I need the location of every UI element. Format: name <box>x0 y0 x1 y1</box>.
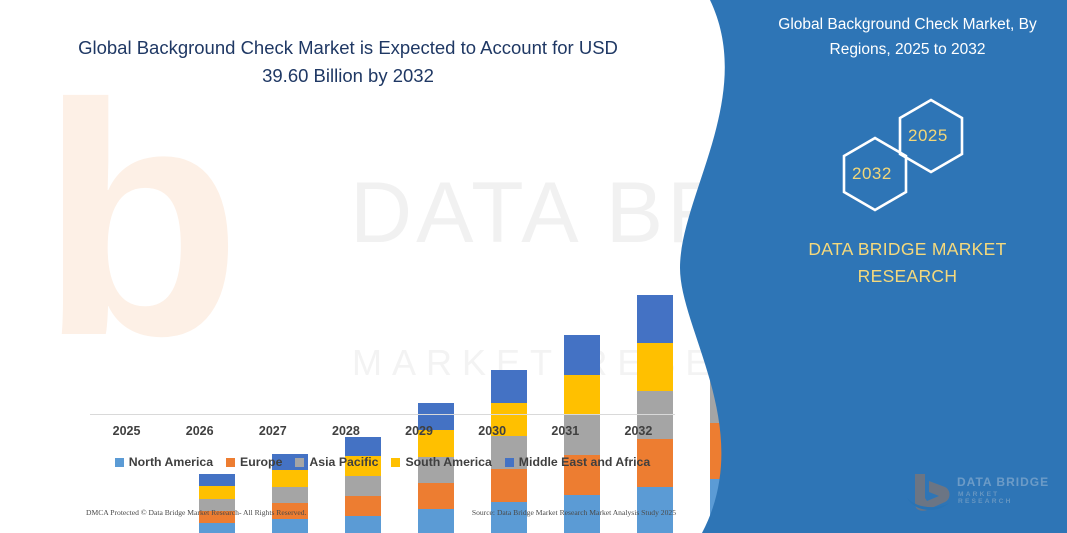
hexagon-2032-label: 2032 <box>852 164 892 184</box>
bar-segment[interactable] <box>418 483 454 509</box>
brand-line-2: RESEARCH <box>775 263 1040 290</box>
legend-swatch-icon <box>115 458 124 467</box>
legend-swatch-icon <box>295 458 304 467</box>
x-axis-tick-2025: 2025 <box>90 424 163 438</box>
stacked-bar[interactable] <box>345 437 381 533</box>
x-axis-tick-2028: 2028 <box>309 424 382 438</box>
bar-segment[interactable] <box>199 474 235 486</box>
bar-segment[interactable] <box>272 519 308 533</box>
bar-segment[interactable] <box>491 502 527 533</box>
legend-label: Asia Pacific <box>309 455 378 469</box>
legend-label: Europe <box>240 455 282 469</box>
bar-group-2028 <box>399 240 472 533</box>
footer-copyright: DMCA Protected © Data Bridge Market Rese… <box>86 508 306 517</box>
legend-swatch-icon <box>226 458 235 467</box>
legend-item[interactable]: Europe <box>226 455 282 469</box>
bar-group-2030 <box>546 240 619 533</box>
footer: DMCA Protected © Data Bridge Market Rese… <box>86 508 676 517</box>
bar-segment[interactable] <box>491 370 527 403</box>
legend-label: North America <box>129 455 213 469</box>
x-axis-line <box>90 414 675 415</box>
x-axis-tick-2029: 2029 <box>383 424 456 438</box>
x-axis-tick-2026: 2026 <box>163 424 236 438</box>
bar-segment[interactable] <box>564 335 600 375</box>
x-axis-tick-2031: 2031 <box>529 424 602 438</box>
bar-group-2027 <box>326 240 399 533</box>
bar-group-2025 <box>180 240 253 533</box>
brand-line-1: DATA BRIDGE MARKET <box>775 236 1040 263</box>
legend-swatch-icon <box>505 458 514 467</box>
bar-group-2026 <box>253 240 326 533</box>
legend-swatch-icon <box>391 458 400 467</box>
page-title: Global Background Check Market is Expect… <box>78 34 618 90</box>
bar-segment[interactable] <box>199 486 235 499</box>
bar-segment[interactable] <box>564 375 600 415</box>
chart-legend: North AmericaEuropeAsia PacificSouth Ame… <box>90 455 675 469</box>
legend-item[interactable]: South America <box>391 455 491 469</box>
brand-logo: DATA BRIDGE MARKET RESEARCH <box>905 470 1055 518</box>
bar-segment[interactable] <box>345 437 381 456</box>
legend-label: South America <box>405 455 491 469</box>
bar-segment[interactable] <box>199 523 235 533</box>
hexagon-2025-label: 2025 <box>908 126 948 146</box>
bridge-logo-icon <box>905 470 953 514</box>
legend-item[interactable]: North America <box>115 455 213 469</box>
brand-name: DATA BRIDGE MARKET RESEARCH <box>775 236 1040 290</box>
right-panel: Global Background Check Market, By Regio… <box>660 0 1067 533</box>
stacked-bar[interactable] <box>199 474 235 533</box>
legend-label: Middle East and Africa <box>519 455 650 469</box>
legend-item[interactable]: Asia Pacific <box>295 455 378 469</box>
bar-group-2029 <box>473 240 546 533</box>
x-axis-labels: 20252026202720282029203020312032 <box>90 424 675 438</box>
logo-name: DATA BRIDGE <box>957 476 1049 489</box>
x-axis-tick-2030: 2030 <box>456 424 529 438</box>
logo-tagline: MARKET RESEARCH <box>958 491 1055 505</box>
bar-segment[interactable] <box>345 476 381 496</box>
footer-source: Source: Data Bridge Market Research Mark… <box>472 508 676 517</box>
x-axis-tick-2027: 2027 <box>236 424 309 438</box>
bar-segment[interactable] <box>345 516 381 533</box>
bar-segment[interactable] <box>272 487 308 503</box>
bar-segment[interactable] <box>491 469 527 502</box>
infographic-canvas: b DATA BRIDGE MARKET RESEARCH Global Bac… <box>0 0 1067 533</box>
stacked-bar-chart <box>90 120 675 416</box>
bar-segment[interactable] <box>272 470 308 487</box>
legend-item[interactable]: Middle East and Africa <box>505 455 650 469</box>
